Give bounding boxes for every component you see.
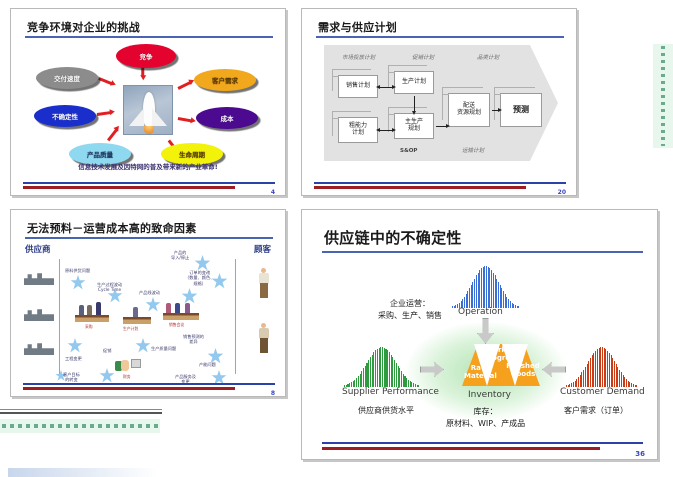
box-production-plan-label: 生产计划 xyxy=(402,79,426,86)
slides-overview-page: 竞争环境对企业的挑战 竞争 交付速度 不确定性 客户需求 成本 产品质量 xyxy=(0,0,673,477)
node-competition-label: 竞争 xyxy=(140,51,153,61)
operation-label-cn-line1: 企业运营： xyxy=(378,298,442,310)
node-delivery-speed[interactable]: 交付速度 xyxy=(36,67,98,89)
box-forecast[interactable]: 预测 xyxy=(500,93,542,127)
slide2-footer-rule-blue xyxy=(314,182,566,184)
node-life-cycle-label: 生命周期 xyxy=(179,149,205,159)
meeting-scene-1 xyxy=(75,306,109,322)
box-sales-plan[interactable]: 销售计划 xyxy=(338,75,378,98)
arrow-to-center-lower-left xyxy=(97,111,111,115)
slide-thumbnail-4[interactable]: 供应链中的不确定性 Operation 企业运营： 采购、生产、销售 Suppl… xyxy=(301,209,658,460)
customer-person-2 xyxy=(257,323,270,353)
footnote-transport-plan: 运输计划 xyxy=(462,146,484,154)
factory-icon-2 xyxy=(24,306,54,321)
box-rough-cut-capacity-plan[interactable]: 粗能力 计划 xyxy=(338,117,378,143)
slide3-footer-rule-blue xyxy=(23,383,275,385)
divider-customer xyxy=(235,259,236,374)
inventory-label-cn-line2: 原材料、WIP、产成品 xyxy=(446,418,525,430)
connector-mps-drp xyxy=(436,126,446,127)
slide4-title: 供应链中的不确定性 xyxy=(324,227,462,248)
office-desk-scene xyxy=(115,358,141,372)
bottom-left-divider-light xyxy=(0,409,162,410)
slide-thumbnail-3[interactable]: 无法预料－运营成本高的致命因素 供应商 顾客 xyxy=(10,209,286,397)
scene-label-finance: 财务 xyxy=(123,374,131,380)
column-header-customer: 顾客 xyxy=(254,243,271,255)
burst-icon-10 xyxy=(99,368,115,384)
arrow-to-center-lower-right xyxy=(178,117,192,122)
box-distribution-resource-planning[interactable]: 配送 资源规划 xyxy=(448,93,490,127)
raw-material-line2: Material xyxy=(464,372,494,380)
connector-sales-production xyxy=(380,87,392,88)
bottom-left-fade-bar xyxy=(8,468,158,477)
node-delivery-speed-label: 交付速度 xyxy=(54,73,80,83)
divider-supplier xyxy=(59,259,60,374)
slide1-title: 竞争环境对企业的挑战 xyxy=(27,19,140,35)
factor-label-5: 订单的变改 （数量、颜色、 规格） xyxy=(185,270,214,286)
factor-label-2: 生产过程波动 Cycle Time xyxy=(97,282,122,293)
node-cost[interactable]: 成本 xyxy=(196,107,258,129)
triangle-work-in-progress: Work In Progress xyxy=(480,346,522,363)
connector-production-mps xyxy=(414,96,415,111)
supplier-distribution-curve xyxy=(344,347,420,387)
customer-label-en: Customer Demand xyxy=(560,387,645,397)
meeting-scene-3 xyxy=(163,304,199,320)
operation-label-cn-line2: 采购、生产、销售 xyxy=(378,310,442,322)
wip-line1: Work In xyxy=(480,346,522,354)
node-uncertainty[interactable]: 不确定性 xyxy=(34,105,96,127)
column-header-supplier: 供应商 xyxy=(25,243,51,255)
box-sales-plan-label: 销售计划 xyxy=(346,83,370,90)
scene-label-production-plan: 生产计划 xyxy=(123,326,138,332)
box-production-plan[interactable]: 生产计划 xyxy=(394,71,434,94)
factor-label-4: 产品线波动 xyxy=(139,290,160,295)
box-distribution-resource-planning-label: 配送 资源规划 xyxy=(457,103,481,117)
factor-label-6: 销售预测的 差异 xyxy=(183,334,204,345)
triangle-finished-goods: Finished Goods xyxy=(505,362,541,379)
slide3-title: 无法预料－运营成本高的致命因素 xyxy=(27,220,197,236)
box-rough-cut-capacity-plan-label: 粗能力 计划 xyxy=(349,123,367,137)
slide3-page-number: 8 xyxy=(271,390,275,397)
slide1-footer-rule-blue xyxy=(23,182,275,184)
node-uncertainty-label: 不确定性 xyxy=(52,111,78,121)
customer-person-1 xyxy=(257,268,270,298)
operation-label-en: Operation xyxy=(458,307,503,317)
slide3-footer-rule-red xyxy=(23,387,235,390)
box-master-production-schedule[interactable]: 主生产 规划 xyxy=(394,113,434,139)
slide4-footer-rule-blue xyxy=(322,442,643,444)
factor-label-9: 工程变更 xyxy=(65,356,82,361)
burst-icon-6 xyxy=(181,288,198,305)
node-customer-demand-label: 客户需求 xyxy=(212,75,238,85)
slide1-title-rule xyxy=(25,36,273,38)
slide4-title-rule xyxy=(322,251,643,253)
stage-label-category: 品类计划 xyxy=(477,53,499,61)
slide1-caption: 信息技术发展及因特网的普及带来新的产业革命! xyxy=(11,161,285,171)
inventory-label-cn: 库存： 原材料、WIP、产成品 xyxy=(446,406,525,429)
footnote-sandop: S&OP xyxy=(400,148,417,154)
operation-distribution-curve xyxy=(452,266,520,308)
factor-label-3: 产品的 导入/停止 xyxy=(171,250,189,261)
slide2-page-number: 20 xyxy=(558,189,566,196)
arrow-to-center-upper-right xyxy=(177,81,191,89)
slide1-page-number: 4 xyxy=(271,189,275,196)
factor-label-7: 生产质量问题 xyxy=(151,346,176,351)
supplier-label-en: Supplier Performance xyxy=(342,387,439,397)
space-shuttle-icon xyxy=(123,85,173,135)
connector-capacity-mps xyxy=(380,130,392,131)
burst-icon-1 xyxy=(70,275,86,291)
factory-icon-1 xyxy=(24,270,54,285)
customer-label-cn: 客户需求（订单） xyxy=(564,405,628,417)
slide2-title: 需求与供应计划 xyxy=(318,19,397,35)
supplier-label-cn: 供应商供货水平 xyxy=(358,405,414,417)
node-product-quality-label: 产品质量 xyxy=(87,149,113,159)
stage-label-promotion: 促销计划 xyxy=(412,53,434,61)
slide-thumbnail-2[interactable]: 需求与供应计划 市场投放计划 促销计划 品类计划 销售计划 生产计划 粗能力 计… xyxy=(301,8,577,196)
node-customer-demand[interactable]: 客户需求 xyxy=(194,69,256,91)
node-competition[interactable]: 竞争 xyxy=(116,44,176,68)
inventory-label-cn-line1: 库存： xyxy=(446,406,525,418)
slide4-footer-rule-red xyxy=(322,447,600,450)
meeting-scene-2 xyxy=(123,308,151,324)
raw-material-line1: Raw xyxy=(464,364,494,372)
factor-label-1: 原料供货问题 xyxy=(65,268,90,273)
box-forecast-label: 预测 xyxy=(513,105,529,114)
burst-icon-8 xyxy=(135,338,151,354)
finished-goods-line1: Finished xyxy=(505,362,541,370)
connector-drp-forecast xyxy=(492,110,498,111)
burst-icon-7 xyxy=(67,338,83,354)
triangle-raw-material: Raw Material xyxy=(464,364,494,381)
node-cost-label: 成本 xyxy=(221,113,234,123)
slide2-title-rule xyxy=(316,36,564,38)
factor-label-11: 促销 xyxy=(103,348,111,353)
operation-label-cn: 企业运营： 采购、生产、销售 xyxy=(378,298,442,321)
slide1-footer-rule-red xyxy=(23,186,235,189)
slide3-title-rule xyxy=(25,237,273,239)
customer-distribution-curve xyxy=(566,347,638,387)
finished-goods-line2: Goods xyxy=(505,370,541,378)
factory-icon-3 xyxy=(24,340,54,355)
right-dotted-decoration xyxy=(653,44,673,148)
stage-label-market: 市场投放计划 xyxy=(342,53,375,61)
bottom-dotted-decoration xyxy=(0,419,160,433)
arrow-to-center-bottom-left xyxy=(107,128,118,141)
slide-thumbnail-1[interactable]: 竞争环境对企业的挑战 竞争 交付速度 不确定性 客户需求 成本 产品质量 xyxy=(10,8,286,196)
scene-label-purchasing: 采购 xyxy=(85,324,93,330)
inventory-label-en: Inventory xyxy=(468,390,511,400)
arrow-to-center-upper-left xyxy=(99,77,113,85)
slide4-page-number: 36 xyxy=(635,450,645,458)
factor-label-10: 客户目标 的转变 xyxy=(63,372,80,383)
box-master-production-schedule-label: 主生产 规划 xyxy=(405,119,423,133)
scene-label-sales-meeting: 销售会议 xyxy=(169,322,184,328)
factor-label-8: 产能问题 xyxy=(199,362,216,367)
slide2-footer-rule-red xyxy=(314,186,526,189)
bottom-left-divider xyxy=(0,412,162,414)
